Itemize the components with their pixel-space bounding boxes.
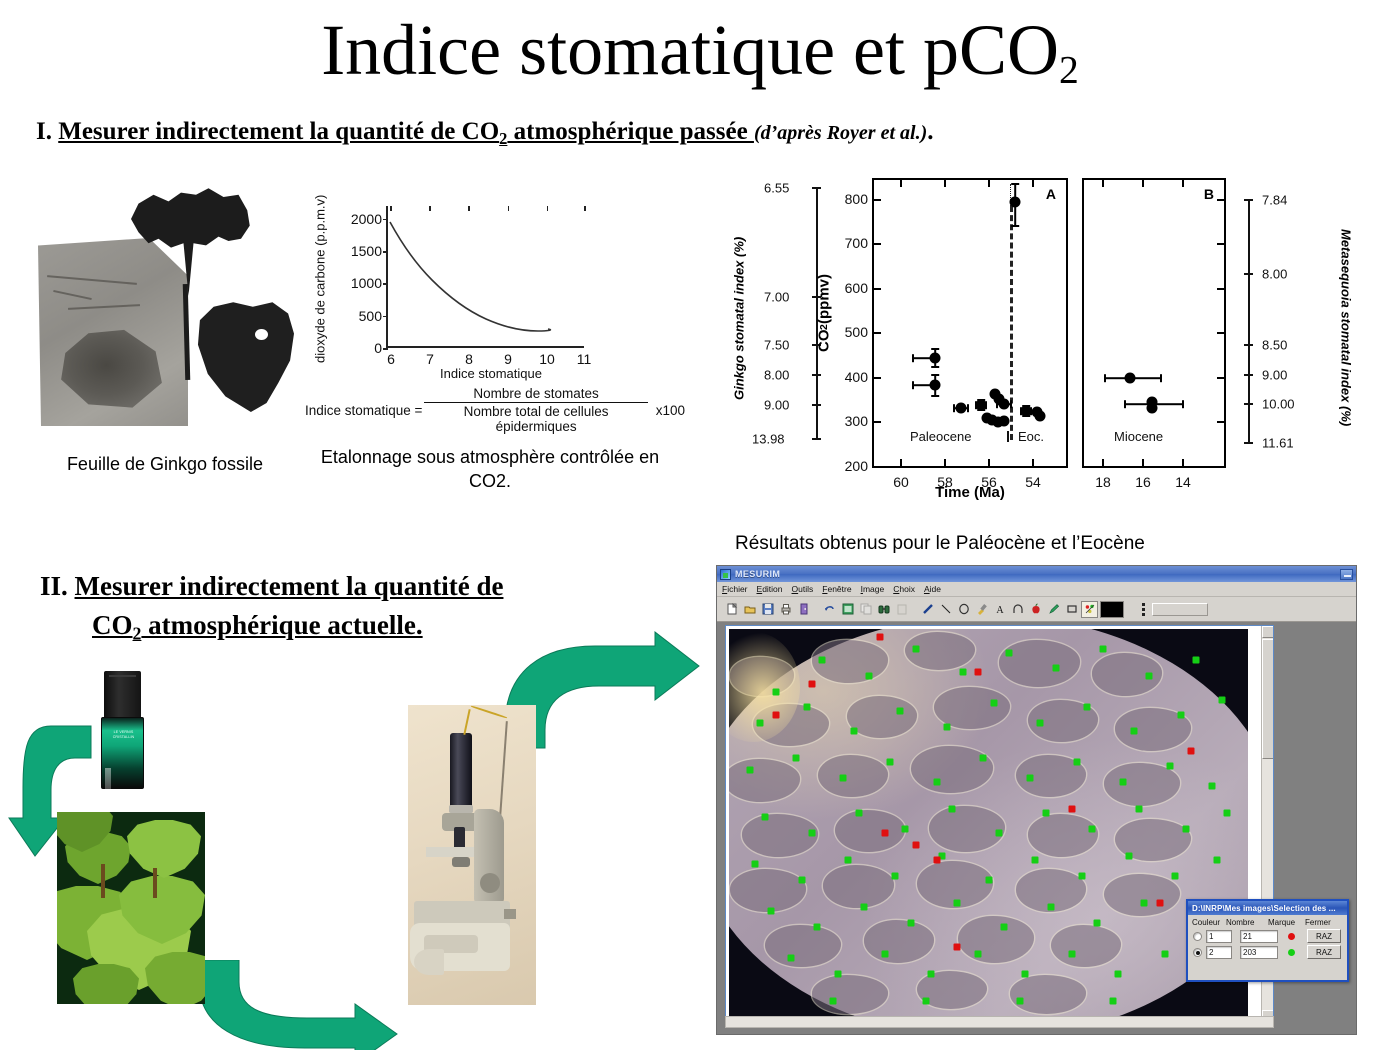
data-point [956,403,967,414]
epidermal-marker [1224,810,1231,817]
meta-si-800: 8.00 [1262,267,1287,282]
epidermal-marker [1172,872,1179,879]
section-1-text-a: Mesurer indirectement la quantité de CO [58,118,499,145]
mesurim-menubar[interactable]: Fichier Edition Outils Fenêtre Image Cho… [717,582,1356,597]
data-point [999,399,1010,410]
epidermal-marker [757,720,764,727]
microscope-eyepiece-ring [449,805,473,813]
menu-image-label: mage [863,584,884,594]
calib-xtick-11: 11 [577,351,592,367]
epidermal-marker [1078,872,1085,879]
epidermal-marker [886,759,893,766]
section-2-line2-b: atmosphérique actuelle. [141,610,422,640]
epidermal-marker [803,704,810,711]
epidermal-marker [1141,900,1148,907]
calib-ytick-500: 500 [359,308,382,324]
scroll-up-button[interactable] [1262,626,1274,638]
epidermal-marker [1167,763,1174,770]
epidermal-marker [907,920,914,927]
epidermal-marker [1213,857,1220,864]
panel-a-ytick-700: 700 [824,235,868,251]
epidermal-marker [1032,857,1039,864]
epidermal-marker [1120,778,1127,785]
formula-denominator: Nombre total de cellules épidermiques [424,402,647,434]
era-label-paleocene: Paleocene [910,429,971,444]
calib-xtick-8: 8 [465,351,473,367]
epidermal-marker [1208,782,1215,789]
formula-fraction: Nombre de stomates Nombre total de cellu… [424,386,647,434]
line-thin-icon[interactable] [937,601,954,618]
menu-aide-label: ide [930,584,941,594]
menu-choix[interactable]: Choix [893,584,915,594]
ellipse-icon[interactable] [955,601,972,618]
pencil-icon[interactable] [1045,601,1062,618]
panel-b: B 18 16 14 Miocene [1082,178,1226,468]
royer-figure: Ginkgo stomatal index (%) 6.55 7.00 7.50… [730,168,1355,503]
menu-fenetre-label: enêtre [827,584,851,594]
column-nombre: Nombre [1226,918,1268,927]
epidermal-marker [990,700,997,707]
exit-door-icon[interactable] [795,601,812,618]
epidermal-marker [1001,923,1008,930]
epidermal-marker [772,688,779,695]
paste-icon[interactable] [893,601,910,618]
ginkgo-si-700: 7.00 [764,290,789,305]
caption-fossil: Feuille de Ginkgo fossile [30,452,300,476]
panel-a-label: A [1046,186,1056,202]
section-2-number: II. [40,571,68,601]
epidermal-marker [1073,759,1080,766]
epidermal-marker [1099,645,1106,652]
epidermal-marker [798,876,805,883]
couleur-field-2[interactable]: 2 [1206,946,1232,959]
section-heading-1: I. Mesurer indirectement la quantité de … [36,118,934,149]
epidermal-marker [1006,649,1013,656]
ginkgo-si-800: 8.00 [764,368,789,383]
mesurim-app-icon [720,569,731,580]
panel-a-ytick-600: 600 [824,280,868,296]
section-2-line2-a: CO [92,610,133,640]
epidermal-marker [1130,727,1137,734]
print-icon[interactable] [777,601,794,618]
stomata-marker [954,943,961,950]
microscope-focus-knob [480,873,500,893]
epidermal-marker [834,970,841,977]
data-point [976,400,987,411]
stomata-marker [772,712,779,719]
formula-numerator: Nombre de stomates [424,386,647,402]
menu-aide[interactable]: Aide [924,584,941,594]
line-width-field[interactable] [1152,603,1208,616]
calib-xtick-9: 9 [504,351,512,367]
mesurim-toolbar[interactable]: A [717,597,1356,622]
epidermal-marker [819,657,826,664]
microscope-camera-tube [450,733,472,813]
ginkgo-stomatal-index-axis-label: Ginkgo stomatal index (%) [730,188,748,448]
leaf-epidermis-micrograph[interactable] [729,629,1248,1021]
menu-outils[interactable]: Outils [792,584,814,594]
menu-choix-label: hoix [899,584,915,594]
calibration-chart: dioxyde de carbone (p.p.m.v) 0 500 1000 … [312,188,612,393]
panel-b-xtick-18: 18 [1095,474,1111,490]
mesurim-window-title: MESURIM [735,569,780,579]
panel-a-ytick-500: 500 [824,324,868,340]
panel-a-ytick-800: 800 [824,191,868,207]
epidermal-marker [793,755,800,762]
dialog-row[interactable]: 1 21 RAZ [1188,928,1347,944]
live-ginkgo-leaves-photo [57,812,205,1004]
stomata-marker [876,633,883,640]
calibration-y-axis-label: dioxyde de carbone (p.p.m.v) [310,184,330,374]
stomata-marker [809,680,816,687]
minimize-button[interactable] [1340,569,1353,580]
data-point [930,380,941,391]
panel-b-label: B [1204,186,1214,202]
calibration-plot-area: 0 500 1000 1500 2000 6 7 8 9 10 11 [386,206,584,348]
calibration-x-axis-label: Indice stomatique [386,366,596,381]
epidermal-marker [767,908,774,915]
epidermal-marker [985,876,992,883]
meta-si-1000: 10.00 [1262,397,1295,412]
microscope-objective [454,827,465,849]
couleur-field-1[interactable]: 1 [1206,930,1232,943]
epidermal-marker [897,708,904,715]
panel-a-ytick-400: 400 [824,369,868,385]
epidermal-marker [1027,774,1034,781]
column-couleur: Couleur [1192,918,1226,927]
section-1-period: . [927,118,933,145]
meta-axis-text: Metasequoia stomatal index (%) [1339,229,1354,426]
epidermal-marker [746,767,753,774]
calib-ytick-1000: 1000 [351,275,382,291]
calib-ytick-1500: 1500 [351,243,382,259]
epidermal-marker [1042,810,1049,817]
epidermal-marker [949,806,956,813]
line-thick-icon[interactable] [919,601,936,618]
meta-si-850: 8.50 [1262,338,1287,353]
color-radio-2[interactable] [1193,948,1202,957]
nombre-field-2[interactable]: 203 [1240,946,1278,959]
micrograph-field-of-view [729,629,1248,1021]
data-point [1010,197,1021,208]
calib-xtick-10: 10 [539,351,555,367]
epidermal-marker [1177,712,1184,719]
cycle-arrow-bottom [195,960,435,1050]
stomata-marker [881,829,888,836]
data-point [1147,403,1158,414]
epidermal-marker [928,970,935,977]
epidermal-marker [881,951,888,958]
ginkgo-si-655: 6.55 [764,181,789,196]
epidermal-marker [1016,998,1023,1005]
section-1-text-b: atmosphérique passée [507,118,754,145]
raz-button-2[interactable]: RAZ [1307,945,1341,959]
nail-polish-bottle-photo: LE VERNIS CRISTALLIN [101,671,144,789]
caption-calibration: Etalonnage sous atmosphère contrôlée en … [320,445,660,494]
epidermal-marker [1037,720,1044,727]
epidermal-marker [912,645,919,652]
menu-edition-label: dition [762,584,782,594]
epidermal-marker [860,904,867,911]
ginkgo-fossil-photo [38,186,303,426]
section-1-number: I. [36,118,52,145]
stomata-marker [1156,900,1163,907]
epidermal-marker [1021,970,1028,977]
bottle-cap [104,671,141,719]
menu-fichier[interactable]: Fichier [722,584,748,594]
era-label-miocene: Miocene [1114,429,1163,444]
data-point [1021,406,1032,417]
optical-microscope-photo [408,705,536,1005]
epidermal-marker [954,900,961,907]
microscope-condenser [452,857,470,867]
menu-fenetre[interactable]: Fenêtre [822,584,851,594]
fossil-rock-slab [38,238,188,426]
epidermal-marker [1052,665,1059,672]
epidermal-marker [933,778,940,785]
count-dialog-header: Couleur Nombre Marque Fermer [1188,915,1347,928]
menu-fichier-label: ichier [727,584,747,594]
panel-b-xtick-16: 16 [1135,474,1151,490]
epidermal-marker [995,829,1002,836]
epidermal-marker [1110,998,1117,1005]
new-document-icon[interactable] [723,601,740,618]
ginkgo-axis-text: Ginkgo stomatal index (%) [732,236,747,399]
epidermal-marker [1115,970,1122,977]
metasequoia-si-scale: 7.84 8.00 8.50 9.00 10.00 11.61 [1242,178,1312,468]
save-disk-icon[interactable] [759,601,776,618]
epidermal-marker [829,998,836,1005]
rectangle-icon[interactable] [1063,601,1080,618]
stomata-marker [933,857,940,864]
stomata-marker [975,669,982,676]
meta-si-900: 9.00 [1262,368,1287,383]
color-swatch[interactable] [1100,601,1124,618]
ginkgo-si-1398: 13.98 [752,432,785,447]
binoculars-icon[interactable] [875,601,892,618]
menu-outils-label: utils [798,584,813,594]
arch-shape-icon[interactable] [1009,601,1026,618]
color-picker-icon[interactable] [1081,601,1098,618]
data-point [930,353,941,364]
stomata-marker [1187,747,1194,754]
open-folder-icon[interactable] [741,601,758,618]
epidermal-marker [980,755,987,762]
formula-lhs: Indice stomatique = [305,403,422,418]
column-fermer: Fermer [1305,918,1345,927]
column-marque: Marque [1268,918,1305,927]
epidermal-marker [762,814,769,821]
line-width-stepper[interactable] [1138,601,1149,618]
nombre-field-1[interactable]: 21 [1240,930,1278,943]
page-title: Indice stomatique et pCO2 [0,14,1400,90]
epidermal-marker [855,810,862,817]
scroll-thumb[interactable] [1262,639,1274,759]
epidermal-marker [814,923,821,930]
ginkgo-leaf-silhouette-right [196,300,294,412]
svg-text:A: A [996,605,1004,615]
epidermal-marker [751,861,758,868]
calib-xtick-6: 6 [387,351,395,367]
calib-xtick-7: 7 [426,351,434,367]
bottle-label: LE VERNIS CRISTALLIN [108,730,139,756]
data-point [1125,373,1136,384]
stomata-marker [1068,806,1075,813]
epidermal-marker [1047,904,1054,911]
window-image-icon[interactable] [839,601,856,618]
epidermal-marker [1084,704,1091,711]
raz-button-1[interactable]: RAZ [1307,929,1341,943]
marker-swatch-1 [1288,933,1295,940]
panel-a-ytick-300: 300 [824,413,868,429]
ginkgo-si-900: 9.00 [764,398,789,413]
epidermal-marker [1094,920,1101,927]
copy-icon[interactable] [857,601,874,618]
bottle-glass: LE VERNIS CRISTALLIN [101,717,144,789]
calib-ytick-2000: 2000 [351,211,382,227]
paintbrush-icon[interactable] [973,601,990,618]
ginkgo-si-750: 7.50 [764,338,789,353]
document-horizontal-scrollbar[interactable] [725,1016,1274,1028]
stomata-marker [912,841,919,848]
page-title-subscript: 2 [1059,48,1079,92]
section-1-source: (d’après Royer et al.) [754,122,927,144]
page-title-text: Indice stomatique et pCO [321,10,1059,90]
count-dialog-title: D:\INRP\Mes images\Selection des ... [1188,901,1347,915]
meta-si-784: 7.84 [1262,193,1287,208]
epidermal-marker [1136,806,1143,813]
epidermal-marker [1193,657,1200,664]
panel-a-ytick-200: 200 [824,458,868,474]
meta-si-1161: 11.61 [1262,436,1294,451]
epidermal-marker [1146,673,1153,680]
epidermal-marker [840,774,847,781]
epidermal-marker [1161,951,1168,958]
section-2-line1: Mesurer indirectement la quantité de [75,571,504,601]
apple-icon[interactable] [1027,601,1044,618]
era-label-eocene: Eoc. [1018,429,1044,444]
metasequoia-stomatal-index-axis-label: Metasequoia stomatal index (%) [1337,178,1355,478]
marker-swatch-2 [1288,949,1295,956]
epidermal-marker [1089,825,1096,832]
epidermal-marker [809,829,816,836]
epidermal-marker [943,724,950,731]
color-radio-1[interactable] [1193,932,1202,941]
count-dialog[interactable]: D:\INRP\Mes images\Selection des ... Cou… [1186,899,1349,982]
dialog-row[interactable]: 2 203 RAZ [1188,944,1347,960]
text-tool-icon[interactable]: A [991,601,1008,618]
time-axis-title: Time (Ma) [872,484,1068,501]
mesurim-titlebar[interactable]: MESURIM [717,566,1356,582]
calibration-curve-line [388,206,586,348]
menu-image[interactable]: Image [861,584,885,594]
epidermal-marker [1219,696,1226,703]
data-point [1035,411,1046,422]
epidermal-marker [959,669,966,676]
formula-factor: x100 [656,403,685,418]
epidermal-marker [1068,951,1075,958]
panel-b-xtick-14: 14 [1175,474,1191,490]
epidermal-marker [892,872,899,879]
undo-arrow-icon[interactable] [821,601,838,618]
epidermal-marker [1182,825,1189,832]
data-point [999,416,1010,427]
epidermal-marker [975,951,982,958]
epidermal-marker [1125,853,1132,860]
epidermal-marker [788,955,795,962]
epidermal-marker [845,857,852,864]
epidermal-marker [923,998,930,1005]
panel-a: A 60 58 56 54 200 300 400 500 600 700 80… [872,178,1068,468]
calib-ytick-0: 0 [374,340,382,356]
epidermal-marker [902,825,909,832]
caption-results: Résultats obtenus pour le Paléocène et l… [735,531,1265,557]
epidermal-marker [866,673,873,680]
stomatal-index-formula: Indice stomatique = Nombre de stomates N… [305,386,685,434]
menu-edition[interactable]: Edition [757,584,783,594]
epidermal-marker [850,727,857,734]
microscope-camera-cable [463,709,470,735]
